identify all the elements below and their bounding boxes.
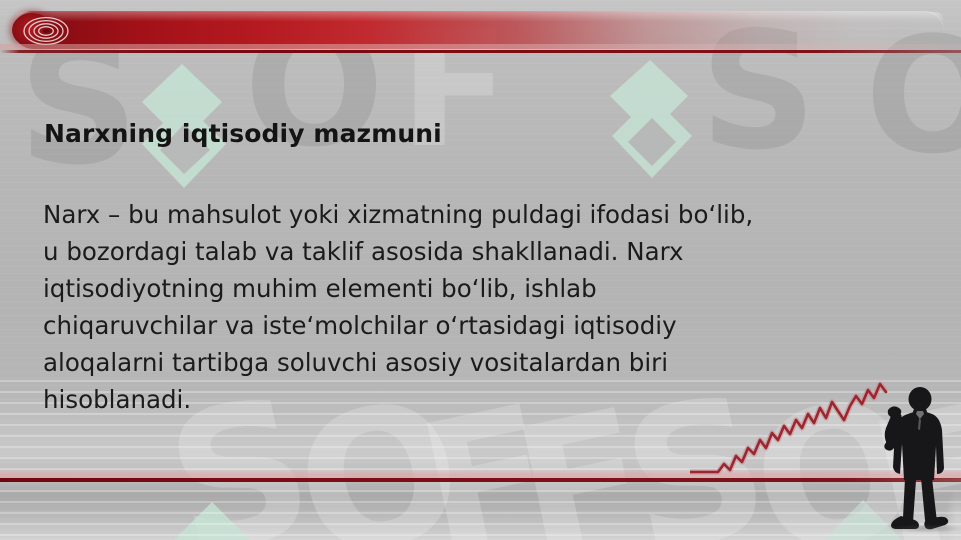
slide-title: Narxning iqtisodiy mazmuni xyxy=(44,119,442,148)
growth-chart-illustration xyxy=(690,378,961,540)
brand-logo-icon xyxy=(170,498,254,540)
brand-logo-watermark-3 xyxy=(170,498,254,540)
watermark-letter-f2: F xyxy=(409,397,559,540)
brand-logo-watermark-2 xyxy=(600,58,704,180)
body-line-2: u bozordagi talab va taklif asosida shak… xyxy=(43,233,943,270)
figure-shadow xyxy=(886,524,961,533)
banner-rule xyxy=(0,50,961,53)
body-line-5: aloqalarni tartibga soluvchi asosiy vosi… xyxy=(43,344,943,381)
bullseye-icon xyxy=(22,16,70,46)
brand-logo-icon xyxy=(600,58,704,180)
body-line-3: iqtisodiyotning muhim elementi bo‘lib, i… xyxy=(43,270,943,307)
watermark-letter-s: S xyxy=(18,36,133,174)
presentation-slide: S O F S O S O F F S O F xyxy=(0,0,961,540)
banner-gloss xyxy=(14,12,944,21)
businessman-silhouette xyxy=(875,386,961,534)
body-line-4: chiqaruvchilar va iste‘molchilar o‘rtasi… xyxy=(43,307,943,344)
body-line-1: Narx – bu mahsulot yoki xizmatning pulda… xyxy=(43,196,943,233)
